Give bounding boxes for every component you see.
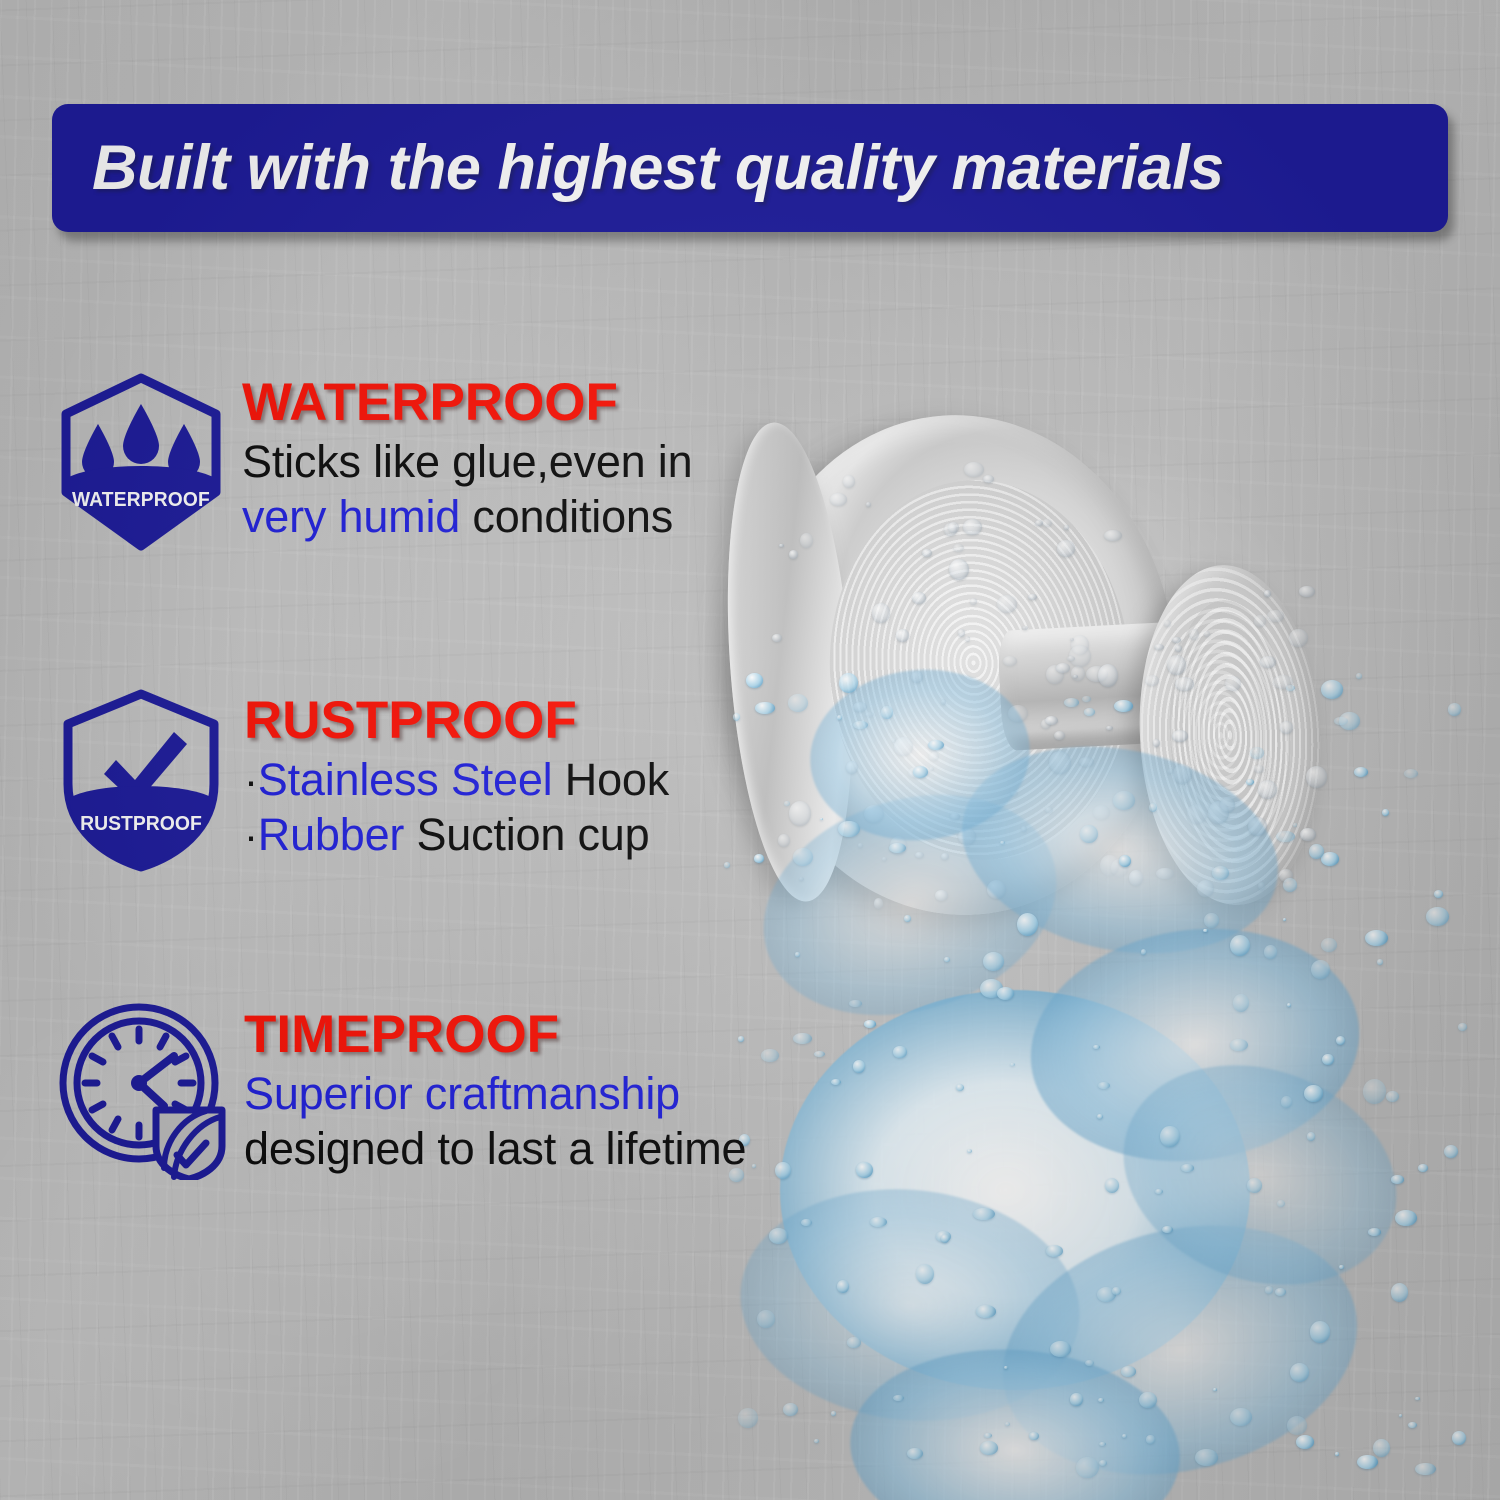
water-droplet [1204, 631, 1210, 637]
splash-droplet [1321, 852, 1339, 866]
splash-droplet [1386, 1091, 1399, 1102]
splash-droplet [1121, 1366, 1136, 1377]
splash-droplet [904, 915, 911, 922]
splash-droplet [1281, 1096, 1292, 1108]
splash-droplet [864, 1020, 876, 1028]
infographic-canvas: Built with the highest quality materials… [0, 0, 1500, 1500]
splash-droplet [1377, 959, 1383, 965]
splash-droplet [1310, 1321, 1330, 1343]
splash-droplet [801, 1219, 812, 1226]
splash-droplet [769, 1228, 788, 1244]
water-droplet [1106, 726, 1113, 730]
splash-droplet [1448, 703, 1461, 716]
splash-droplet [795, 952, 800, 957]
splash-droplet [1064, 698, 1079, 707]
splash-droplet [1304, 1085, 1323, 1102]
splash-droplet [1113, 791, 1135, 810]
splash-droplet [1155, 1189, 1163, 1194]
water-droplet [1056, 663, 1070, 673]
splash-droplet [761, 1049, 779, 1062]
splash-droplet [1230, 1039, 1248, 1051]
water-droplet [843, 475, 855, 488]
splash-droplet [724, 862, 730, 868]
splash-droplet [893, 1395, 904, 1401]
feature-timeproof: TIMEPROOF Superior craftmanship designed… [56, 1000, 746, 1185]
rustproof-shield-check-icon: RUSTPROOF [56, 688, 226, 873]
splash-droplet [1287, 1416, 1307, 1435]
splash-droplet [913, 766, 928, 778]
splash-droplet [889, 843, 906, 853]
splash-droplet [838, 821, 860, 837]
splash-droplet [1418, 1164, 1428, 1172]
splash-droplet [738, 1408, 758, 1428]
water-droplet [1172, 637, 1181, 643]
splash-droplet [1212, 866, 1229, 880]
splash-droplet [831, 1411, 836, 1416]
splash-droplet [1070, 1393, 1083, 1406]
splash-droplet [1233, 994, 1249, 1012]
water-droplet [1258, 780, 1277, 799]
splash-droplet [1458, 1023, 1467, 1031]
splash-droplet [783, 1403, 798, 1416]
splash-droplet [1373, 1439, 1390, 1457]
splash-droplet [1321, 680, 1343, 699]
water-droplet [1300, 828, 1316, 841]
rustproof-line1-part2: Hook [552, 754, 669, 805]
rustproof-line-1: ·Stainless Steel Hook [244, 753, 669, 808]
rustproof-line2-part2: Suction cup [404, 809, 649, 860]
splash-droplet [1363, 1079, 1386, 1104]
splash-droplet [1204, 913, 1219, 928]
splash-droplet [1149, 803, 1157, 812]
splash-droplet [1181, 1164, 1194, 1172]
rustproof-badge-label: RUSTPROOF [80, 813, 202, 835]
water-droplet [1153, 739, 1160, 747]
splash-droplet [973, 1208, 995, 1220]
splash-droplet [1195, 1449, 1218, 1466]
splash-droplet [1404, 769, 1418, 778]
rustproof-badge: RUSTPROOF [56, 688, 226, 878]
timeproof-line-1: Superior craftmanship [244, 1067, 746, 1122]
splash-droplet [1335, 1452, 1339, 1456]
splash-droplet [1391, 1175, 1404, 1184]
splash-droplet [853, 721, 868, 729]
splash-droplet [1283, 878, 1297, 892]
splash-droplet [837, 715, 842, 720]
splash-droplet [793, 848, 813, 866]
splash-droplet [784, 801, 790, 806]
water-droplet [772, 634, 782, 642]
splash-droplet [1356, 673, 1362, 679]
splash-droplet [881, 706, 893, 719]
splash-droplet [1452, 1431, 1466, 1445]
splash-droplet [1141, 949, 1146, 955]
splash-droplet [1426, 907, 1449, 926]
water-droplet [958, 629, 965, 637]
splash-droplet [1365, 930, 1388, 946]
splash-droplet [1080, 825, 1098, 843]
splash-droplet [814, 1051, 825, 1057]
splash-droplet [733, 713, 740, 721]
timeproof-line-2: designed to last a lifetime [244, 1122, 746, 1177]
splash-droplet [1084, 708, 1095, 716]
splash-droplet [1105, 1178, 1119, 1193]
rustproof-heading: RUSTPROOF [244, 694, 669, 747]
splash-droplet [1368, 1228, 1381, 1236]
splash-droplet [1093, 1045, 1100, 1049]
splash-droplet [755, 702, 775, 714]
rustproof-line2-part1: Rubber [258, 809, 404, 860]
splash-droplet [1336, 1036, 1345, 1045]
splash-droplet [1286, 685, 1295, 691]
water-droplet [963, 519, 982, 535]
water-droplet [1267, 610, 1284, 622]
waterproof-heading: WATERPROOF [242, 376, 692, 429]
splash-droplet [793, 1033, 812, 1044]
water-droplet [1035, 520, 1043, 526]
splash-droplet [1098, 1082, 1110, 1089]
water-droplet [1306, 766, 1327, 788]
splash-droplet [1399, 1414, 1402, 1417]
waterproof-line1-part1: Sticks like glue,even in [242, 436, 692, 487]
water-droplet [1225, 676, 1241, 691]
water-droplet [1289, 629, 1308, 647]
splash-droplet [831, 1079, 841, 1085]
rustproof-text-block: RUSTPROOF ·Stainless Steel Hook ·Rubber … [244, 688, 669, 863]
water-droplet [1145, 675, 1159, 686]
waterproof-text-block: WATERPROOF Sticks like glue,even in Stai… [242, 372, 692, 545]
splash-droplet [907, 1448, 923, 1459]
splash-droplet [1099, 1460, 1107, 1466]
water-droplet [1175, 645, 1182, 652]
water-droplet [1299, 586, 1315, 597]
splash-droplet [1311, 960, 1330, 979]
splash-droplet [1250, 747, 1264, 759]
splash-droplet [849, 1000, 862, 1007]
water-droplet [800, 533, 813, 548]
water-droplet [964, 462, 984, 477]
splash-droplet [746, 673, 763, 688]
splash-droplet [1247, 1178, 1262, 1193]
water-droplet [965, 636, 970, 642]
timeproof-text-block: TIMEPROOF Superior craftmanship designed… [244, 1000, 746, 1177]
splash-droplet [1307, 1132, 1315, 1141]
splash-droplet [839, 673, 858, 693]
splash-droplet [1415, 1463, 1436, 1475]
water-droplet [1064, 525, 1069, 530]
splash-droplet [1357, 1455, 1378, 1469]
water-droplet [896, 629, 909, 642]
waterproof-line-1: Sticks like glue,even in [242, 435, 692, 490]
timeproof-heading: TIMEPROOF [244, 1008, 746, 1061]
waterproof-badge-label: WATERPROOF [72, 489, 210, 511]
splash-droplet [752, 1164, 756, 1168]
timeproof-clock-shield-icon [56, 1000, 234, 1180]
splash-droplet [1321, 938, 1337, 952]
splash-droplet [1415, 1397, 1420, 1400]
water-droplet [1254, 615, 1266, 627]
splash-droplet [1029, 1432, 1039, 1440]
feature-waterproof: WATERPROOF WATERPROOF Sticks like glue,e… [56, 372, 692, 557]
splash-droplet [967, 1149, 972, 1153]
splash-droplet [1085, 1360, 1094, 1366]
splash-droplet [1339, 1265, 1344, 1269]
water-droplet [778, 834, 790, 847]
splash-droplet [1276, 831, 1295, 842]
rustproof-bullet-1: · [244, 757, 258, 804]
splash-droplet [1382, 809, 1389, 816]
banner-title: Built with the highest quality materials [52, 132, 1224, 204]
splash-droplet [1296, 1435, 1314, 1449]
header-banner: Built with the highest quality materials [52, 104, 1448, 232]
water-droplet [789, 801, 811, 826]
waterproof-line2-part2: conditions [460, 491, 673, 542]
water-droplet [1175, 677, 1194, 691]
waterproof-hexagon-droplets-icon: WATERPROOF [56, 372, 226, 552]
splash-droplet [893, 1046, 907, 1058]
water-droplet [1104, 530, 1122, 541]
splash-droplet [1434, 890, 1443, 898]
waterproof-line2-part1: very humid [242, 491, 460, 542]
rustproof-line-2: ·Rubber Suction cup [244, 808, 669, 863]
splash-droplet [1112, 1287, 1121, 1295]
splash-droplet [1339, 712, 1360, 730]
timeproof-badge [56, 1000, 226, 1185]
splash-droplet [983, 952, 1004, 971]
splash-droplet [976, 1305, 996, 1318]
water-droplet [1057, 540, 1075, 557]
splash-droplet [1046, 1245, 1063, 1257]
splash-droplet [1010, 1063, 1015, 1066]
timeproof-line2-part1: designed to last a lifetime [244, 1123, 746, 1174]
splash-droplet [1264, 945, 1277, 959]
splash-droplet [856, 1162, 873, 1178]
splash-droplet [997, 987, 1014, 1000]
splash-droplet [1139, 1392, 1157, 1408]
splash-droplet [775, 1162, 791, 1179]
waterproof-line-2: Stainless Steel very humid conditions [242, 490, 692, 545]
splash-droplet [754, 854, 764, 863]
splash-droplet [1309, 844, 1324, 859]
water-droplet [1254, 765, 1264, 773]
splash-droplet [1408, 1422, 1417, 1428]
splash-droplet [1391, 1283, 1408, 1302]
rustproof-line1-part1: Stainless Steel [258, 754, 553, 805]
product-photo [700, 370, 1500, 1500]
water-droplet [953, 544, 964, 552]
rustproof-bullet-2: · [244, 812, 258, 859]
water-droplet [922, 549, 932, 557]
splash-droplet [1354, 767, 1368, 777]
water-droplet [1098, 664, 1118, 687]
splash-droplet [1050, 1341, 1071, 1357]
splash-droplet [1287, 1003, 1291, 1007]
splash-droplet [1213, 1388, 1217, 1391]
splash-droplet [1160, 1126, 1180, 1147]
water-droplet [789, 550, 798, 559]
splash-droplet [1283, 918, 1286, 921]
splash-droplet [956, 1084, 964, 1091]
splash-droplet [980, 1441, 998, 1455]
water-droplet [1280, 721, 1293, 734]
water-droplet [1073, 675, 1078, 678]
water-droplet [912, 592, 926, 604]
feature-rustproof: RUSTPROOF RUSTPROOF ·Stainless Steel Hoo… [56, 688, 669, 878]
splash-droplet [1017, 913, 1038, 936]
splash-droplet [1395, 1210, 1417, 1226]
timeproof-line1-part1: Superior craftmanship [244, 1068, 680, 1119]
splash-droplet [1082, 696, 1091, 702]
waterproof-badge: WATERPROOF [56, 372, 226, 557]
splash-droplet [814, 1439, 819, 1443]
splash-droplet [1265, 1286, 1273, 1294]
water-droplet [1003, 656, 1017, 666]
water-droplet [872, 603, 890, 623]
splash-droplet [1444, 1145, 1458, 1158]
splash-droplet [1246, 779, 1254, 785]
splash-droplet [1097, 1114, 1103, 1119]
water-droplet [1189, 629, 1199, 640]
water-droplet [1172, 730, 1188, 742]
splash-droplet [1146, 1435, 1155, 1444]
splash-droplet [847, 1337, 861, 1348]
